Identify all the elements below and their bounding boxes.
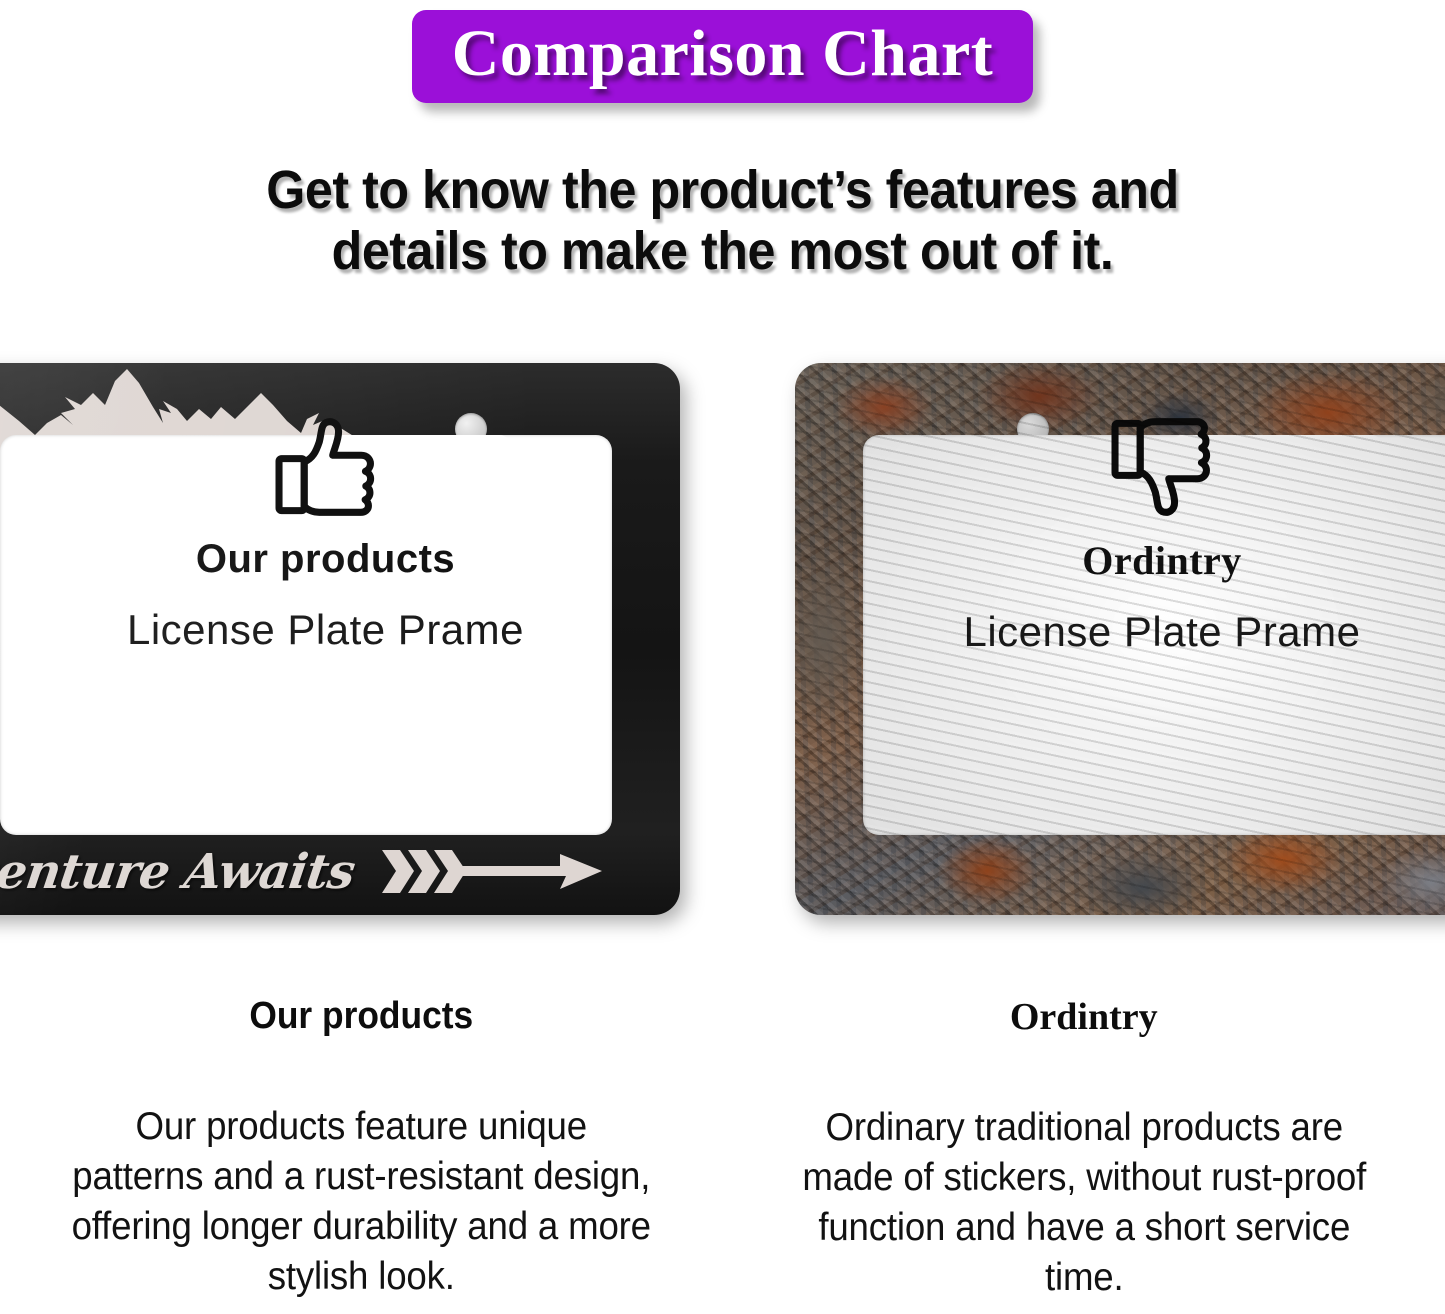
ordinary-product-frame: Ordintry License Plate Prame bbox=[795, 363, 1445, 915]
subtitle-line-1: Get to know the product’s features and bbox=[51, 160, 1395, 221]
page-subtitle: Get to know the product’s features and d… bbox=[51, 160, 1395, 282]
ordinary-product-plate-subheading: License Plate Prame bbox=[963, 608, 1360, 656]
black-frame-body: Our products License Plate Prame Adventu… bbox=[0, 363, 680, 915]
our-product-column-body: Our products feature unique patterns and… bbox=[22, 1102, 701, 1302]
adventure-awaits-band: Adventure Awaits bbox=[0, 829, 680, 915]
thumbs-down-icon bbox=[1108, 415, 1216, 519]
mountain-silhouette-icon bbox=[0, 363, 385, 455]
product-frames-row: Our products License Plate Prame Adventu… bbox=[0, 363, 1445, 920]
ordinary-product-plate-heading: Ordintry bbox=[1082, 537, 1242, 584]
ordinary-product-column-title: Ordintry bbox=[723, 995, 1445, 1039]
screw-hole bbox=[455, 413, 487, 445]
rusted-frame-body: Ordintry License Plate Prame bbox=[795, 363, 1445, 915]
ordinary-product-column: Ordintry Ordinary traditional products a… bbox=[723, 995, 1445, 1314]
our-product-plate-heading: Our products bbox=[196, 537, 455, 582]
subtitle-line-2: details to make the most out of it. bbox=[51, 221, 1395, 282]
screw-hole bbox=[1017, 413, 1049, 445]
thumbs-up-icon bbox=[272, 415, 380, 519]
title-banner-wrap: Comparison Chart bbox=[0, 10, 1445, 103]
our-product-plate-subheading: License Plate Prame bbox=[127, 606, 524, 654]
license-plate-window bbox=[863, 435, 1445, 835]
ordinary-product-plate-content: Ordintry License Plate Prame bbox=[795, 363, 1445, 915]
plate-chamfer bbox=[205, 435, 513, 493]
plate-chamfer bbox=[1055, 435, 1385, 493]
adventure-awaits-text: Adventure Awaits bbox=[0, 844, 358, 900]
description-columns: Our products Our products feature unique… bbox=[0, 995, 1445, 1314]
our-product-frame: Our products License Plate Prame Adventu… bbox=[0, 363, 680, 915]
our-product-plate-content: Our products License Plate Prame bbox=[0, 363, 680, 915]
comparison-chart-page: Comparison Chart Get to know the product… bbox=[0, 0, 1445, 1314]
arrow-right-icon bbox=[378, 844, 608, 900]
our-product-column-title: Our products bbox=[25, 995, 697, 1038]
title-banner: Comparison Chart bbox=[412, 10, 1034, 103]
ordinary-product-column-body: Ordinary traditional products are made o… bbox=[744, 1103, 1423, 1303]
license-plate-window bbox=[0, 435, 612, 835]
our-product-column: Our products Our products feature unique… bbox=[0, 995, 723, 1314]
page-title: Comparison Chart bbox=[452, 18, 994, 89]
